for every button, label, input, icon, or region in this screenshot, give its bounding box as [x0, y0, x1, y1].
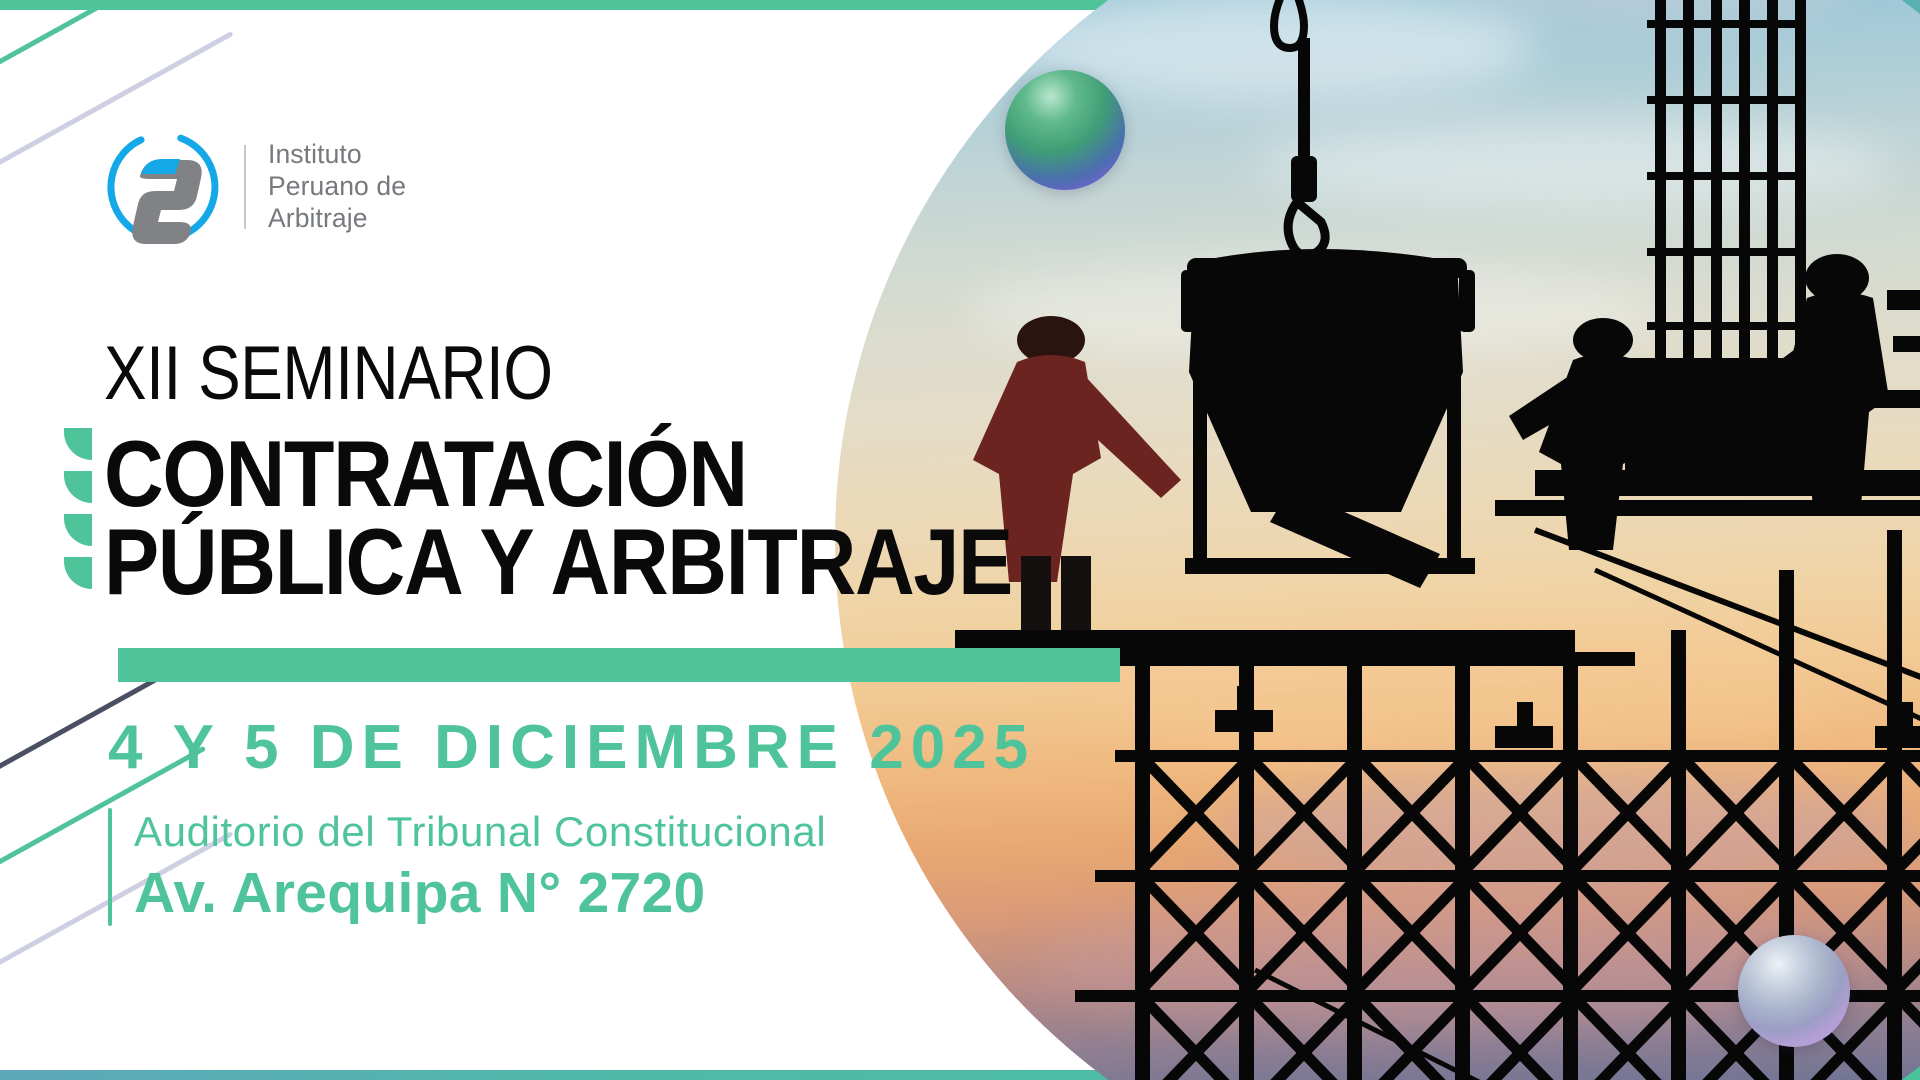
event-date: 4 Y 5 DE DICIEMBRE 2025	[108, 712, 1035, 783]
green-tick	[64, 557, 92, 589]
brand-name-line-2: Peruano de	[268, 171, 406, 203]
green-tick	[64, 471, 92, 503]
event-venue: Auditorio del Tribunal Constitucional Av…	[108, 808, 826, 926]
poster-content: Instituto Peruano de Arbitraje XII SEMIN…	[0, 0, 1020, 1080]
green-tick-accents	[64, 428, 98, 600]
ipa-monogram-icon	[104, 128, 222, 246]
brand-name-line-1: Instituto	[268, 139, 406, 171]
venue-text: Auditorio del Tribunal Constitucional Av…	[134, 808, 826, 926]
gradient-sphere-silver-lavender-icon	[1738, 935, 1850, 1047]
seminar-poster-banner: Instituto Peruano de Arbitraje XII SEMIN…	[0, 0, 1920, 1080]
green-tick	[64, 428, 92, 460]
event-kicker: XII SEMINARIO	[104, 330, 553, 417]
concrete-bucket	[1189, 249, 1463, 512]
venue-address: Av. Arequipa N° 2720	[134, 860, 826, 926]
green-divider-bar	[118, 648, 1120, 682]
gradient-sphere-green-purple-icon	[1005, 70, 1125, 190]
venue-rule	[108, 808, 112, 926]
brand-name-line-3: Arbitraje	[268, 203, 406, 235]
green-tick	[64, 514, 92, 546]
logo-divider	[244, 145, 246, 229]
venue-name: Auditorio del Tribunal Constitucional	[134, 808, 826, 856]
event-title-line-2: PÚBLICA Y ARBITRAJE	[104, 508, 1012, 616]
brand-name: Instituto Peruano de Arbitraje	[268, 139, 406, 234]
brand-logo: Instituto Peruano de Arbitraje	[104, 128, 406, 246]
